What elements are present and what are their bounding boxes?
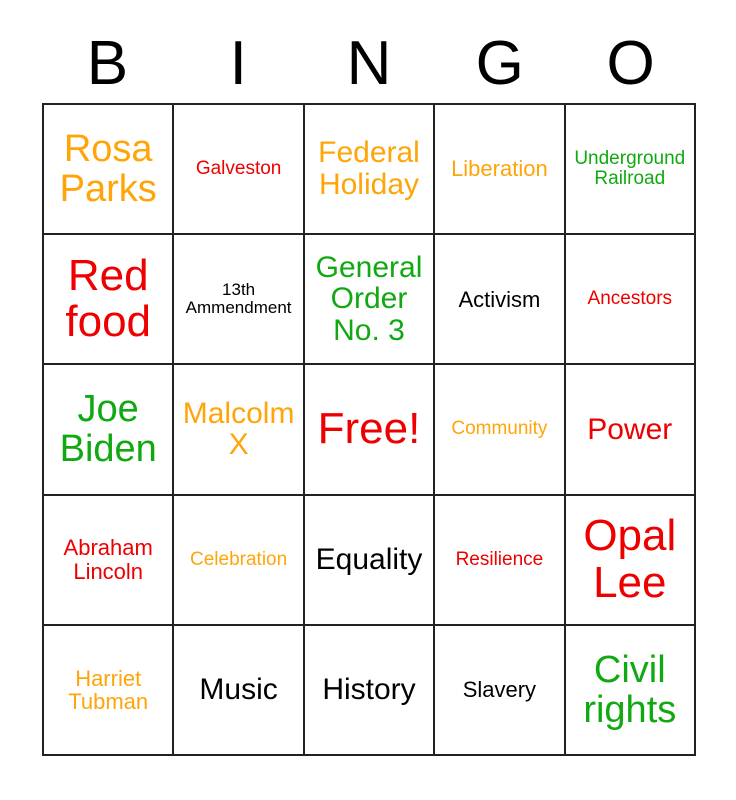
- bingo-cell-label: Ancestors: [570, 289, 690, 309]
- bingo-cell-label: Joe Biden: [48, 389, 168, 470]
- bingo-cell-r2-c2[interactable]: 13th Ammendment: [174, 235, 304, 365]
- bingo-cell-r3-c2[interactable]: Malcolm X: [174, 365, 304, 495]
- bingo-cell-label: Free!: [309, 406, 429, 453]
- bingo-cell-label: Power: [570, 414, 690, 446]
- bingo-cell-r4-c1[interactable]: Abraham Lincoln: [44, 496, 174, 626]
- bingo-cell-label: Activism: [439, 288, 559, 311]
- bingo-cell-r4-c3[interactable]: Equality: [305, 496, 435, 626]
- bingo-header-letter-1: I: [173, 28, 304, 100]
- bingo-cell-label: Opal Lee: [570, 513, 690, 606]
- bingo-cell-label: Civil rights: [570, 650, 690, 731]
- bingo-cell-label: 13th Ammendment: [178, 281, 298, 317]
- bingo-cell-r2-c4[interactable]: Activism: [435, 235, 565, 365]
- bingo-cell-r4-c2[interactable]: Celebration: [174, 496, 304, 626]
- bingo-cell-r5-c3[interactable]: History: [305, 626, 435, 756]
- bingo-cell-r4-c5[interactable]: Opal Lee: [566, 496, 696, 626]
- bingo-cell-r2-c5[interactable]: Ancestors: [566, 235, 696, 365]
- bingo-cell-label: Galveston: [178, 159, 298, 179]
- bingo-cell-label: Harriet Tubman: [48, 667, 168, 714]
- bingo-header-letter-2: N: [304, 28, 435, 100]
- bingo-cell-r3-c1[interactable]: Joe Biden: [44, 365, 174, 495]
- bingo-header-row: BINGO: [42, 28, 696, 100]
- bingo-cell-r5-c1[interactable]: Harriet Tubman: [44, 626, 174, 756]
- bingo-cell-label: Red food: [48, 253, 168, 346]
- bingo-cell-label: Music: [178, 674, 298, 706]
- bingo-cell-label: Rosa Parks: [48, 129, 168, 210]
- bingo-cell-label: Malcolm X: [178, 398, 298, 462]
- bingo-cell-r1-c2[interactable]: Galveston: [174, 105, 304, 235]
- bingo-cell-r5-c4[interactable]: Slavery: [435, 626, 565, 756]
- bingo-cell-r1-c4[interactable]: Liberation: [435, 105, 565, 235]
- bingo-cell-r4-c4[interactable]: Resilience: [435, 496, 565, 626]
- bingo-cell-r5-c5[interactable]: Civil rights: [566, 626, 696, 756]
- bingo-cell-r3-c4[interactable]: Community: [435, 365, 565, 495]
- bingo-cell-label: Abraham Lincoln: [48, 536, 168, 583]
- bingo-cell-r2-c1[interactable]: Red food: [44, 235, 174, 365]
- bingo-cell-label: History: [309, 674, 429, 706]
- bingo-header-letter-4: O: [565, 28, 696, 100]
- bingo-cell-r1-c3[interactable]: Federal Holiday: [305, 105, 435, 235]
- bingo-cell-label: General Order No. 3: [309, 252, 429, 347]
- bingo-cell-label: Equality: [309, 544, 429, 576]
- bingo-header-letter-3: G: [434, 28, 565, 100]
- bingo-header-letter-0: B: [42, 28, 173, 100]
- bingo-cell-r5-c2[interactable]: Music: [174, 626, 304, 756]
- bingo-cell-r2-c3[interactable]: General Order No. 3: [305, 235, 435, 365]
- bingo-cell-label: Community: [439, 419, 559, 439]
- bingo-cell-r1-c5[interactable]: Underground Railroad: [566, 105, 696, 235]
- bingo-cell-label: Slavery: [439, 678, 559, 701]
- bingo-cell-label: Liberation: [439, 157, 559, 180]
- bingo-cell-label: Resilience: [439, 550, 559, 570]
- bingo-cell-r3-c3[interactable]: Free!: [305, 365, 435, 495]
- bingo-cell-r1-c1[interactable]: Rosa Parks: [44, 105, 174, 235]
- bingo-card: BINGO Rosa ParksGalvestonFederal Holiday…: [0, 0, 736, 800]
- bingo-grid: Rosa ParksGalvestonFederal HolidayLibera…: [42, 103, 696, 756]
- bingo-cell-r3-c5[interactable]: Power: [566, 365, 696, 495]
- bingo-cell-label: Federal Holiday: [309, 137, 429, 201]
- bingo-cell-label: Underground Railroad: [570, 149, 690, 189]
- bingo-cell-label: Celebration: [178, 550, 298, 570]
